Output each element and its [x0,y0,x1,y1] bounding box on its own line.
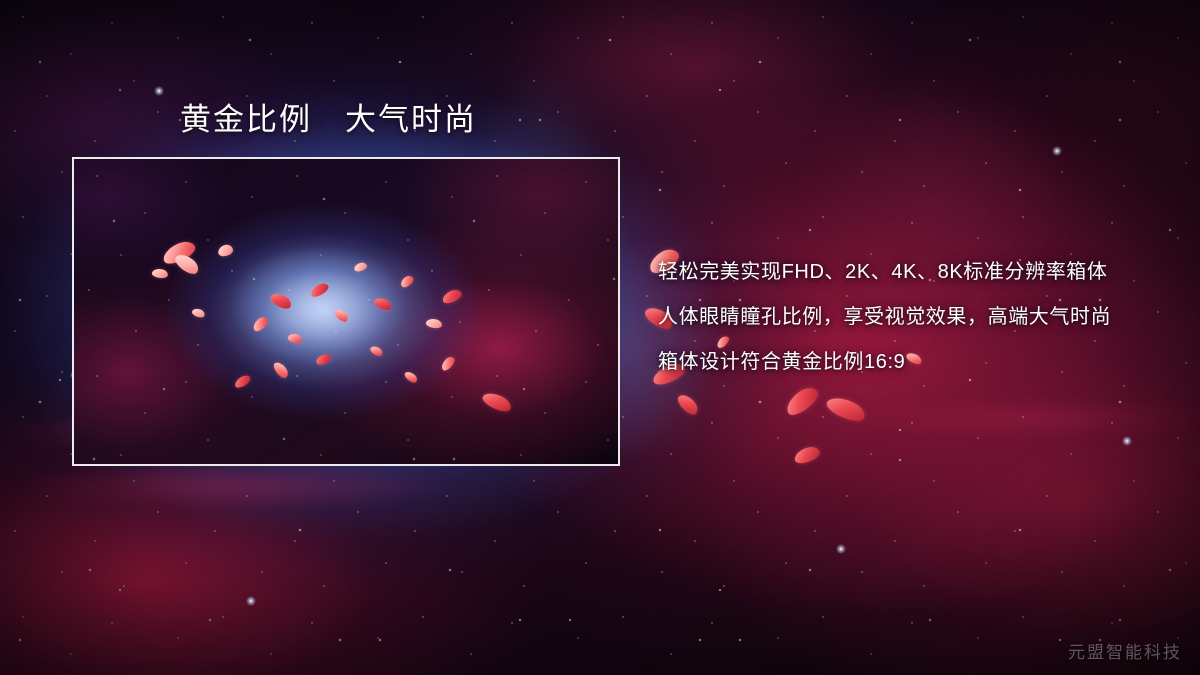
petal [675,391,701,418]
body-text-block: 轻松完美实现FHD、2K、4K、8K标准分辨率箱体 人体眼睛瞳孔比例，享受视觉效… [658,250,1178,385]
bright-star-glow [836,544,846,554]
bright-star-glow [1052,146,1062,156]
image-panel [72,157,620,466]
petal [782,383,822,419]
panel-nebula-image [74,159,618,464]
petal [792,444,821,465]
bright-star-glow [154,86,164,96]
bright-star-glow [246,596,256,606]
petal [824,393,868,426]
bright-star-glow [1122,436,1132,446]
body-line: 轻松完美实现FHD、2K、4K、8K标准分辨率箱体 [658,250,1178,295]
watermark: 元盟智能科技 [1068,638,1182,663]
page-title: 黄金比例 大气时尚 [180,101,477,139]
body-line: 人体眼睛瞳孔比例，享受视觉效果，高端大气时尚 [658,295,1178,340]
body-line: 箱体设计符合黄金比例16:9 [658,340,1178,385]
presentation-slide: 黄金比例 大气时尚 轻松完美实现F [0,0,1200,675]
